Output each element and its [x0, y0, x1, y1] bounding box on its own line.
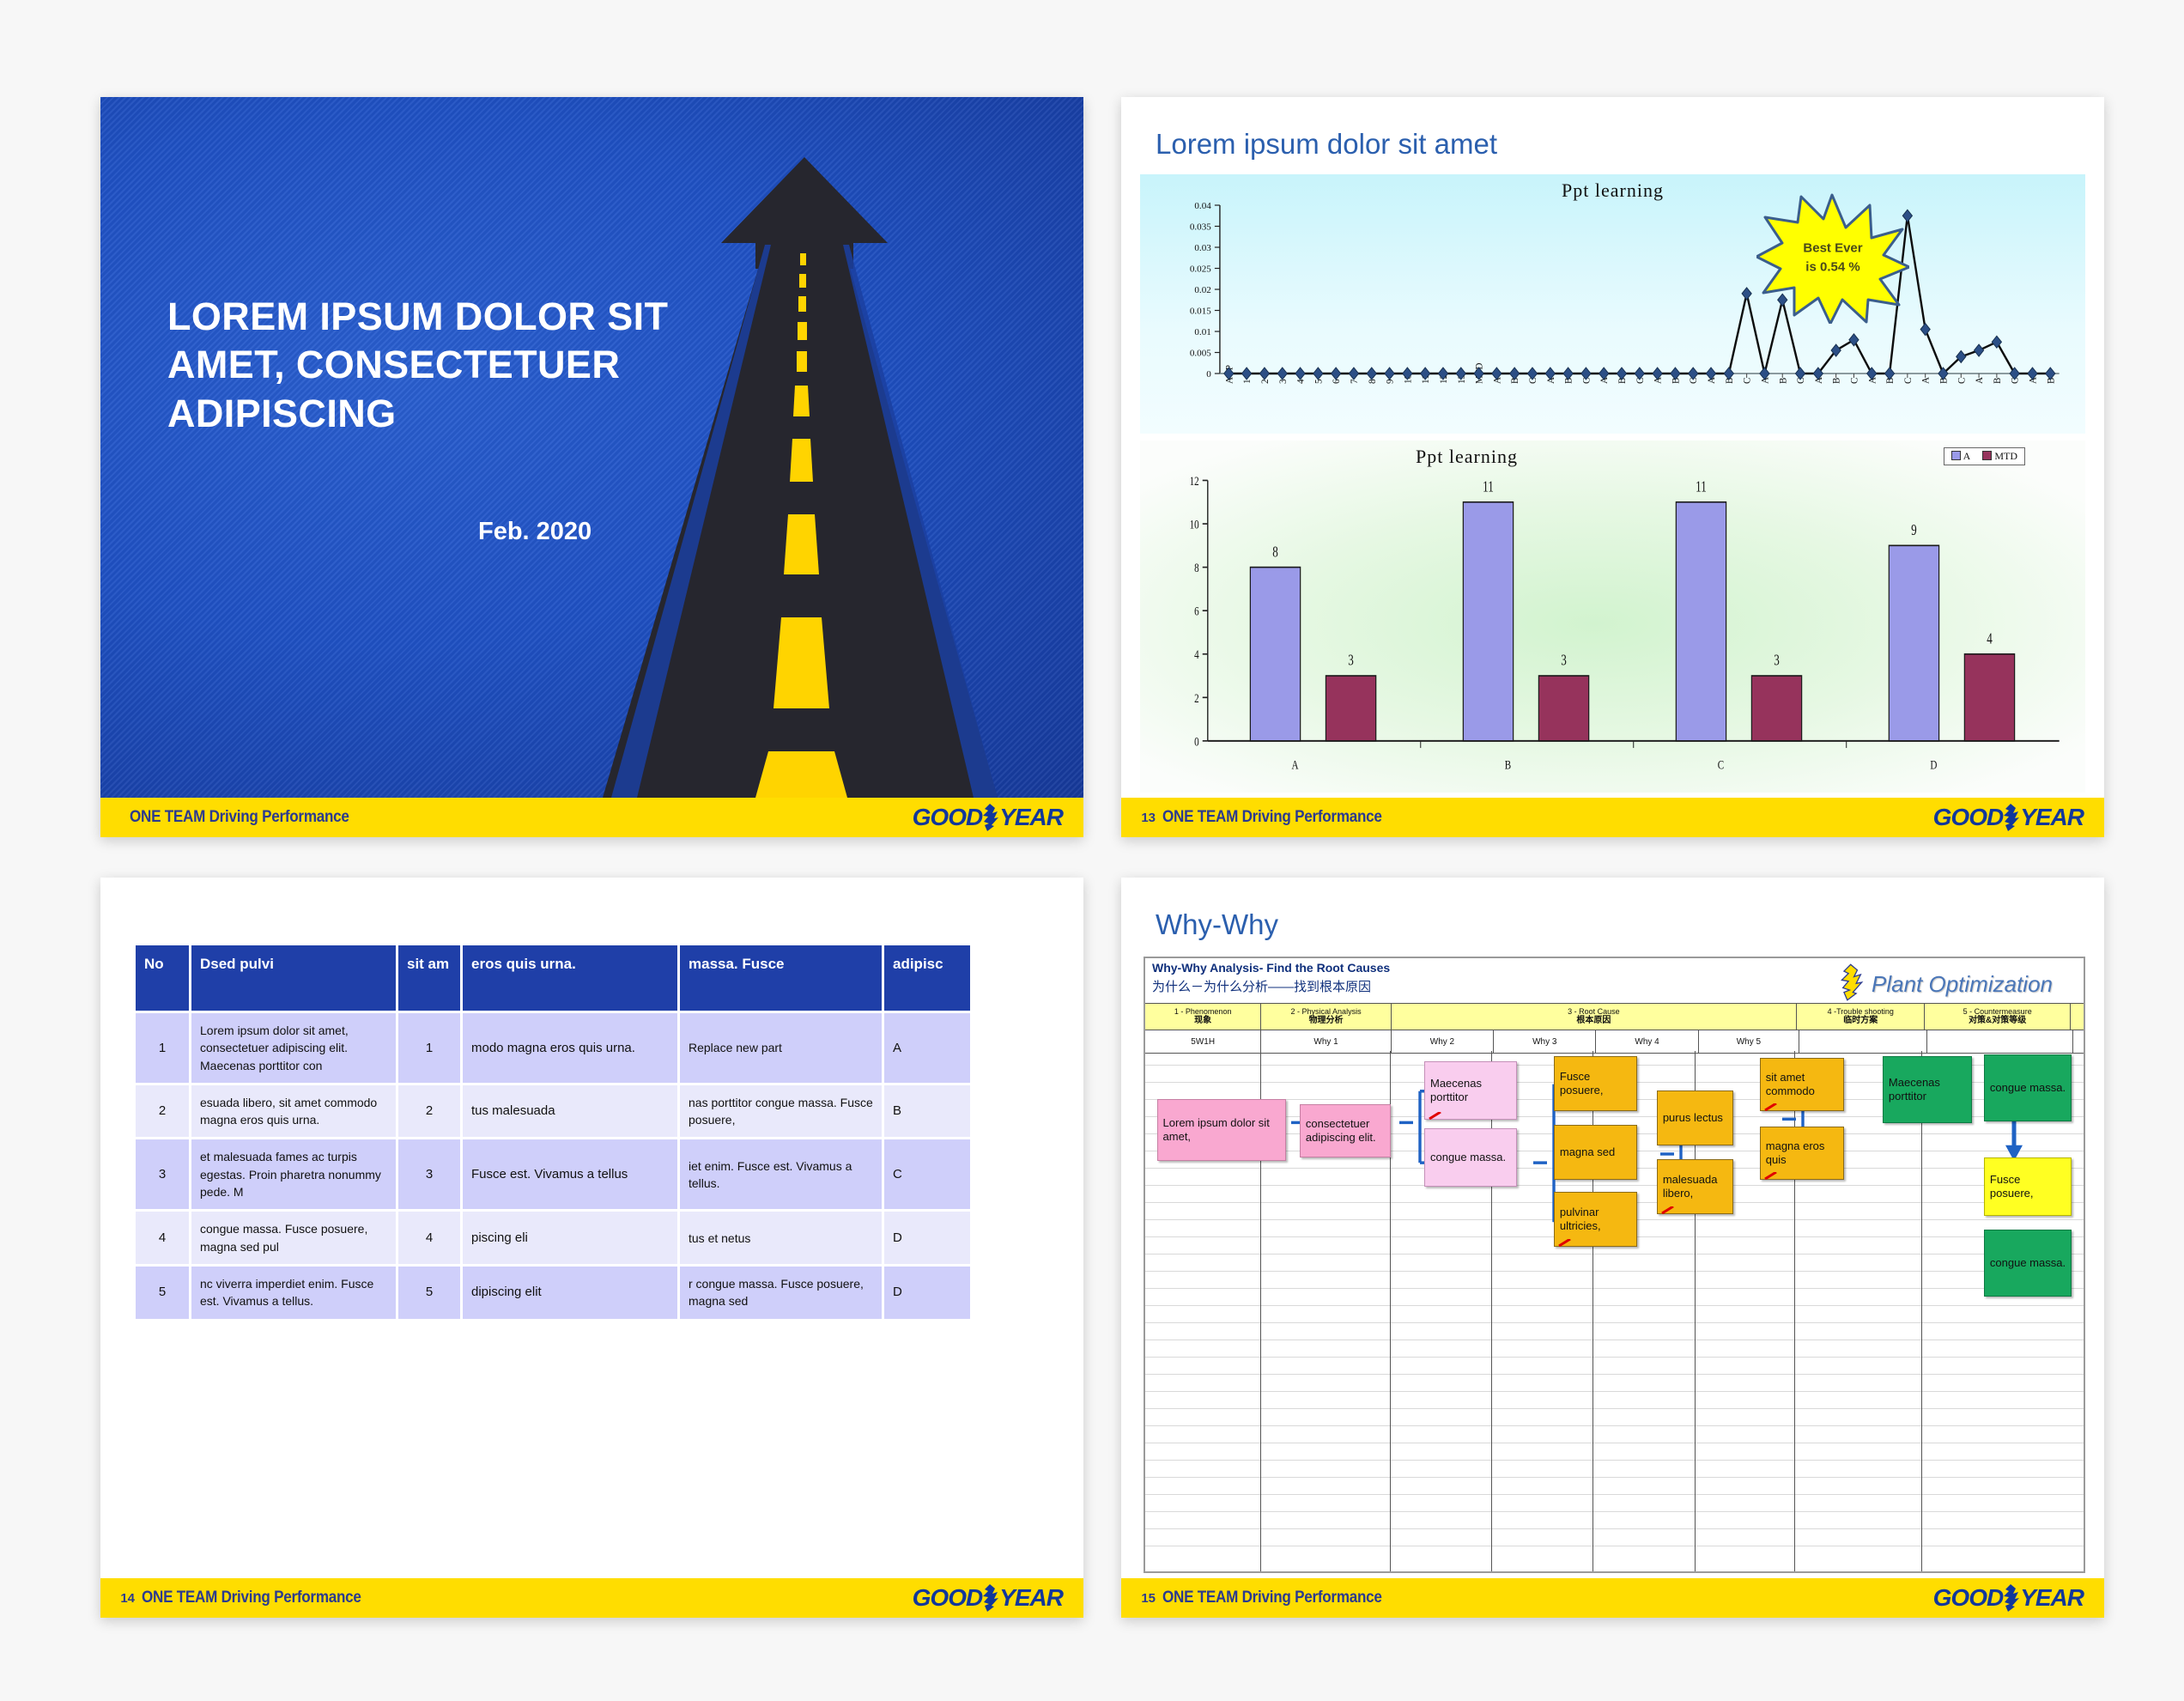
grid-divider	[1921, 1051, 1922, 1571]
brand-good: GOOD	[1933, 804, 2004, 831]
why-why-node-label: congue massa.	[1990, 1081, 2066, 1095]
why-why-node-label: Fusce posuere,	[1990, 1173, 2066, 1200]
row-cell-adipisc: D	[884, 1267, 970, 1319]
col-header-cn: 物理分析	[1309, 1016, 1344, 1026]
svg-text:A: A	[1975, 377, 1985, 384]
brand-year: YEAR	[2020, 804, 2084, 831]
row-cell-desc: esuada libero, sit amet commodo magna er…	[191, 1085, 396, 1138]
svg-text:7: 7	[1350, 379, 1360, 384]
why-why-node[interactable]: consectetuer adipiscing elit.	[1300, 1104, 1391, 1157]
grid-rule	[1145, 1460, 2084, 1461]
why-why-node[interactable]: congue massa.	[1984, 1230, 2072, 1297]
why-why-col-header: 4 -Trouble shooting临时方案	[1797, 1004, 1925, 1030]
why-why-sub-header: Why 4	[1596, 1030, 1698, 1053]
why-why-node[interactable]: magna sed	[1554, 1125, 1637, 1180]
svg-text:12: 12	[1190, 473, 1199, 488]
why-why-sub-header: Why 1	[1261, 1030, 1391, 1053]
slide-footer: 15 ONE TEAM Driving Performance GOOD YEA…	[1121, 1578, 2104, 1618]
why-why-node[interactable]: Fusce posuere,	[1984, 1157, 2072, 1216]
sheet-title-cn: 为什么－为什么分析——找到根本原因	[1152, 977, 1371, 995]
svg-text:A: A	[1291, 757, 1298, 772]
row-cell-sitam: 4	[398, 1212, 460, 1264]
page-number: 14	[116, 1591, 135, 1606]
grid-rule	[1145, 1305, 2084, 1306]
grid-rule	[1145, 1322, 2084, 1323]
why-why-sub-header	[1799, 1030, 1927, 1053]
red-flag-icon	[1661, 1204, 1675, 1212]
why-why-col-header: 3 - Root Cause根本原因	[1392, 1004, 1797, 1030]
brand-year: YEAR	[999, 1584, 1063, 1612]
why-why-node[interactable]: sit amet commodo	[1760, 1058, 1845, 1111]
row-cell-no: 4	[136, 1212, 189, 1264]
grid-rule	[1145, 1340, 2084, 1340]
col-header-massa: massa. Fusce	[680, 945, 882, 1011]
grid-rule	[1145, 1288, 2084, 1289]
svg-text:8: 8	[1272, 544, 1278, 561]
grid-rule	[1145, 1408, 2084, 1409]
row-cell-massa: nas porttitor congue massa. Fusce posuer…	[680, 1085, 882, 1138]
svg-text:9: 9	[1911, 522, 1917, 538]
brand-year: YEAR	[2020, 1584, 2084, 1612]
bar-chart-plot: 024681012 8311311394 ABCD	[1140, 440, 2085, 793]
title-date: Feb. 2020	[478, 518, 591, 546]
grid-rule	[1145, 1271, 2084, 1272]
why-why-node[interactable]: Maecenas porttitor	[1424, 1061, 1517, 1120]
grid-rule	[1145, 1357, 2084, 1358]
svg-text:2: 2	[1260, 379, 1271, 384]
table-row: 3et malesuada fames ac turpis egestas. P…	[136, 1139, 970, 1209]
row-cell-desc: et malesuada fames ac turpis egestas. Pr…	[191, 1139, 396, 1209]
row-cell-sitam: 1	[398, 1013, 460, 1083]
why-why-node[interactable]: Lorem ipsum dolor sit amet,	[1157, 1099, 1287, 1161]
why-why-node-label: malesuada libero,	[1663, 1173, 1727, 1200]
winged-foot-icon	[1837, 963, 1866, 1005]
goodyear-logo: GOOD YEAR	[913, 804, 1063, 831]
row-cell-eros: dipiscing elit	[463, 1267, 677, 1319]
slide-footer: 13 ONE TEAM Driving Performance GOOD YEA…	[1121, 798, 2104, 837]
row-cell-massa: iet enim. Fusce est. Vivamus a tellus.	[680, 1139, 882, 1209]
plant-optimization-badge: Plant Optimization	[1837, 963, 2053, 1005]
svg-text:11: 11	[1483, 479, 1494, 495]
col-header-adipisc: adipisc	[884, 945, 970, 1011]
svg-text:5: 5	[1313, 379, 1324, 384]
best-ever-callout: Best Ever is 0.54 %	[1756, 193, 1909, 324]
why-why-column-headers: 1 - Phenomenon现象2 - Physical Analysis物理分…	[1145, 1004, 2084, 1030]
slide-title[interactable]: LOREM IPSUM DOLOR SIT AMET, CONSECTETUER…	[100, 97, 1083, 837]
row-cell-adipisc: B	[884, 1085, 970, 1138]
page-title: Lorem ipsum dolor sit amet	[1156, 128, 1497, 161]
why-why-sheet[interactable]: Why-Why Analysis- Find the Root Causes 为…	[1144, 957, 2085, 1573]
bar-chart[interactable]: Ppt learning A MTD 024681012 8311311394 …	[1140, 440, 2085, 793]
why-why-node[interactable]: Maecenas porttitor	[1883, 1056, 1972, 1123]
winged-foot-icon	[983, 805, 998, 830]
why-why-node[interactable]: pulvinar ultricies,	[1554, 1192, 1637, 1247]
svg-text:4: 4	[1987, 631, 1993, 647]
grid-rule	[1145, 1511, 2084, 1512]
svg-text:4: 4	[1194, 647, 1199, 662]
svg-text:B: B	[1778, 378, 1788, 384]
brand-good: GOOD	[913, 804, 983, 831]
slide-why-why[interactable]: Why-Why Why-Why Analysis- Find the Root …	[1121, 878, 2104, 1618]
col-header-sitam: sit am	[398, 945, 460, 1011]
svg-text:C: C	[1743, 378, 1753, 384]
svg-text:0.03: 0.03	[1194, 243, 1211, 253]
why-why-sub-header: Why 5	[1699, 1030, 1799, 1053]
svg-text:B: B	[1993, 378, 2003, 384]
row-cell-desc: Lorem ipsum dolor sit amet, consectetuer…	[191, 1013, 396, 1083]
row-cell-adipisc: C	[884, 1139, 970, 1209]
row-cell-no: 1	[136, 1013, 189, 1083]
red-flag-icon	[1764, 1101, 1778, 1109]
red-flag-icon	[1764, 1169, 1778, 1177]
winged-foot-icon	[2004, 805, 2019, 830]
slide-deck: LOREM IPSUM DOLOR SIT AMET, CONSECTETUER…	[0, 0, 2184, 1701]
row-cell-sitam: 5	[398, 1267, 460, 1319]
why-why-sub-headers: 5W1HWhy 1Why 2Why 3Why 4Why 5	[1145, 1030, 2084, 1054]
page-title: LOREM IPSUM DOLOR SIT AMET, CONSECTETUER…	[167, 293, 734, 438]
slide-charts[interactable]: Lorem ipsum dolor sit amet Ppt learning …	[1121, 97, 2104, 837]
line-chart-plot: 00.0050.010.0150.020.0250.030.0350.04 AO…	[1140, 174, 2085, 434]
svg-text:8: 8	[1368, 379, 1378, 384]
sheet-title-en: Why-Why Analysis- Find the Root Causes	[1152, 961, 1390, 975]
why-why-node-label: congue massa.	[1430, 1151, 1506, 1164]
svg-text:0.025: 0.025	[1190, 264, 1211, 275]
line-chart[interactable]: Ppt learning 00.0050.010.0150.020.0250.0…	[1140, 174, 2085, 434]
why-why-sub-header: Why 2	[1392, 1030, 1494, 1053]
svg-text:A: A	[1921, 377, 1932, 384]
sheet-header: Why-Why Analysis- Find the Root Causes 为…	[1145, 958, 2084, 1004]
grid-rule	[1145, 1391, 2084, 1392]
red-flag-icon	[1558, 1236, 1572, 1244]
title-background: LOREM IPSUM DOLOR SIT AMET, CONSECTETUER…	[100, 97, 1083, 798]
goodyear-logo: GOOD YEAR	[913, 1584, 1063, 1612]
why-why-sub-header	[1927, 1030, 2072, 1053]
svg-text:0.015: 0.015	[1190, 307, 1211, 317]
row-cell-no: 3	[136, 1139, 189, 1209]
svg-text:3: 3	[1348, 653, 1354, 669]
svg-text:6: 6	[1332, 379, 1342, 384]
svg-text:C: C	[1956, 378, 1967, 384]
col-header-cn: 现象	[1194, 1016, 1211, 1026]
row-cell-no: 2	[136, 1085, 189, 1138]
why-why-node-label: consectetuer adipiscing elit.	[1306, 1117, 1385, 1145]
grid-rule	[1145, 1374, 2084, 1375]
svg-text:10: 10	[1190, 517, 1199, 532]
why-why-node-label: pulvinar ultricies,	[1560, 1206, 1631, 1233]
why-why-sub-header: 5W1H	[1145, 1030, 1261, 1053]
svg-text:6: 6	[1194, 604, 1199, 618]
winged-foot-icon	[983, 1585, 998, 1611]
row-cell-sitam: 3	[398, 1139, 460, 1209]
why-why-node-label: Maecenas porttitor	[1430, 1077, 1511, 1104]
svg-text:D: D	[1930, 757, 1937, 772]
brand-good: GOOD	[913, 1584, 983, 1612]
row-cell-adipisc: A	[884, 1013, 970, 1083]
col-header-en: 2 - Physical Analysis	[1291, 1007, 1362, 1016]
footer-title: ONE TEAM Driving Performance	[1162, 1589, 1382, 1607]
grid-rule	[1145, 1546, 2084, 1546]
svg-text:3: 3	[1774, 653, 1780, 669]
slide-footer: ONE TEAM Driving Performance GOOD YEAR	[100, 798, 1083, 837]
svg-text:9: 9	[1386, 379, 1396, 384]
plant-optimization-label: Plant Optimization	[1872, 971, 2053, 998]
table-header-row: No Dsed pulvi sit am eros quis urna. mas…	[136, 945, 970, 1011]
svg-text:0.005: 0.005	[1190, 349, 1211, 359]
col-header-en: 1 - Phenomenon	[1174, 1007, 1232, 1016]
col-header-en: 3 - Root Cause	[1568, 1007, 1620, 1016]
col-header-en: 4 -Trouble shooting	[1828, 1007, 1894, 1016]
row-cell-eros: Fusce est. Vivamus a tellus	[463, 1139, 677, 1209]
road-illustration	[551, 97, 1083, 798]
slide-table[interactable]: No Dsed pulvi sit am eros quis urna. mas…	[100, 878, 1083, 1618]
why-why-sub-header: Why 3	[1494, 1030, 1596, 1053]
why-why-col-header: 2 - Physical Analysis物理分析	[1261, 1004, 1391, 1030]
why-why-node-label: purus lectus	[1663, 1111, 1723, 1125]
svg-text:3: 3	[1278, 379, 1289, 384]
col-header-eros: eros quis urna.	[463, 945, 677, 1011]
col-header-no: No	[136, 945, 189, 1011]
goodyear-logo: GOOD YEAR	[1933, 1584, 2084, 1612]
col-header-cn: 对策&对策等级	[1969, 1016, 2026, 1026]
why-why-node-label: magna eros quis	[1766, 1139, 1839, 1167]
goodyear-logo: GOOD YEAR	[1933, 804, 2084, 831]
table-row: 1Lorem ipsum dolor sit amet, consectetue…	[136, 1013, 970, 1083]
why-why-node[interactable]: congue massa.	[1984, 1054, 2072, 1121]
grid-rule	[1145, 1185, 2084, 1186]
svg-text:0.035: 0.035	[1190, 222, 1211, 233]
svg-text:3: 3	[1561, 653, 1567, 669]
svg-text:C: C	[1903, 378, 1914, 384]
grid-rule	[1145, 1425, 2084, 1426]
svg-text:0.01: 0.01	[1194, 327, 1210, 337]
footer-title: ONE TEAM Driving Performance	[1162, 808, 1382, 827]
svg-text:C: C	[1849, 378, 1859, 384]
svg-text:8: 8	[1194, 560, 1199, 574]
why-why-node-label: sit amet commodo	[1766, 1071, 1839, 1098]
why-why-node-label: magna sed	[1560, 1145, 1615, 1159]
table-row: 2esuada libero, sit amet commodo magna e…	[136, 1085, 970, 1138]
row-cell-sitam: 2	[398, 1085, 460, 1138]
row-cell-eros: modo magna eros quis urna.	[463, 1013, 677, 1083]
why-why-node[interactable]: magna eros quis	[1760, 1127, 1845, 1180]
footer-title: ONE TEAM Driving Performance	[130, 808, 349, 827]
red-flag-icon	[1429, 1109, 1442, 1117]
svg-text:0.04: 0.04	[1194, 201, 1211, 211]
why-why-col-header: 1 - Phenomenon现象	[1145, 1004, 1261, 1030]
svg-text:B: B	[1505, 757, 1512, 772]
grid-rule	[1145, 1494, 2084, 1495]
why-why-node-label: Maecenas porttitor	[1889, 1076, 1966, 1103]
winged-foot-icon	[2004, 1585, 2019, 1611]
svg-text:1: 1	[1242, 379, 1253, 384]
svg-text:2: 2	[1194, 690, 1199, 705]
row-cell-desc: congue massa. Fusce posuere, magna sed p…	[191, 1212, 396, 1264]
svg-text:0: 0	[1206, 369, 1211, 380]
col-header-cn: 根本原因	[1576, 1016, 1611, 1026]
row-cell-massa: tus et netus	[680, 1212, 882, 1264]
svg-text:0: 0	[1194, 734, 1199, 749]
why-why-node[interactable]: purus lectus	[1657, 1090, 1733, 1145]
table-row: 4congue massa. Fusce posuere, magna sed …	[136, 1212, 970, 1264]
row-cell-eros: tus malesuada	[463, 1085, 677, 1138]
svg-text:B: B	[1832, 378, 1842, 384]
col-header-desc: Dsed pulvi	[191, 945, 396, 1011]
grid-rule	[1145, 1528, 2084, 1529]
page-title: Why-Why	[1156, 908, 1278, 941]
grid-rule	[1145, 1254, 2084, 1254]
col-header-en: 5 - Countermeasure	[1963, 1007, 2032, 1016]
col-header-cn: 临时方案	[1843, 1016, 1878, 1026]
row-cell-adipisc: D	[884, 1212, 970, 1264]
svg-text:0.02: 0.02	[1194, 285, 1210, 295]
row-cell-eros: piscing eli	[463, 1212, 677, 1264]
svg-text:11: 11	[1696, 479, 1707, 495]
why-why-node[interactable]: Fusce posuere,	[1554, 1056, 1637, 1111]
page-number: 15	[1137, 1591, 1156, 1606]
brand-good: GOOD	[1933, 1584, 2004, 1612]
why-why-node[interactable]: congue massa.	[1424, 1128, 1517, 1187]
why-why-canvas: Lorem ipsum dolor sit amet,consectetuer …	[1145, 1051, 2084, 1571]
brand-year: YEAR	[999, 804, 1063, 831]
slide-footer: 14 ONE TEAM Driving Performance GOOD YEA…	[100, 1578, 1083, 1618]
row-cell-massa: r congue massa. Fusce posuere, magna sed	[680, 1267, 882, 1319]
why-why-node-label: congue massa.	[1990, 1256, 2066, 1270]
data-table: No Dsed pulvi sit am eros quis urna. mas…	[133, 943, 973, 1321]
grid-rule	[1145, 1443, 2084, 1443]
why-why-node-label: Fusce posuere,	[1560, 1070, 1631, 1097]
svg-text:C: C	[1718, 757, 1725, 772]
grid-rule	[1145, 1477, 2084, 1478]
why-why-node-label: Lorem ipsum dolor sit amet,	[1163, 1116, 1281, 1144]
svg-text:4: 4	[1296, 379, 1307, 384]
page-number: 13	[1137, 811, 1156, 825]
why-why-node[interactable]: malesuada libero,	[1657, 1159, 1733, 1214]
why-why-col-header: 5 - Countermeasure对策&对策等级	[1925, 1004, 2070, 1030]
row-cell-no: 5	[136, 1267, 189, 1319]
footer-title: ONE TEAM Driving Performance	[142, 1589, 361, 1607]
row-cell-massa: Replace new part	[680, 1013, 882, 1083]
table-row: 5nc viverra imperdiet enim. Fusce est. V…	[136, 1267, 970, 1319]
chart-area: Ppt learning 00.0050.010.0150.020.0250.0…	[1140, 174, 2085, 793]
row-cell-desc: nc viverra imperdiet enim. Fusce est. Vi…	[191, 1267, 396, 1319]
